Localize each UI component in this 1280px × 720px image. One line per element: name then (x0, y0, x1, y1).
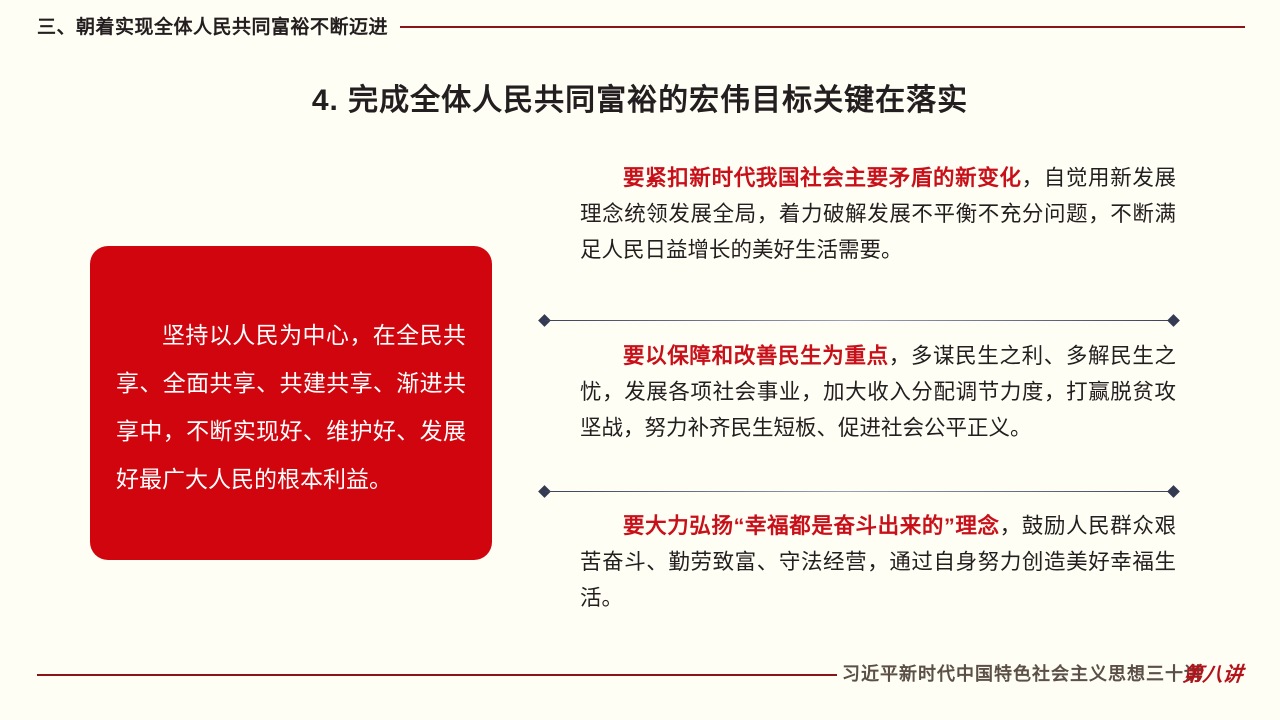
divider-line (545, 320, 1173, 321)
point-lead-2: 要以保障和改善民生为重点 (623, 344, 889, 368)
diamond-icon (1167, 485, 1180, 498)
point-paragraph-2: 要以保障和改善民生为重点，多谋民生之利、多解民生之忧，发展各项社会事业，加大收入… (540, 338, 1178, 446)
callout-text: 坚持以人民为中心，在全民共享、全面共享、共建共享、渐进共享中，不断实现好、维护好… (116, 311, 466, 503)
slide-root: 三、朝着实现全体人民共同富裕不断迈进 4. 完成全体人民共同富裕的宏伟目标关键在… (0, 0, 1280, 720)
point-lead-3: 要大力弘扬“幸福都是奋斗出来的”理念 (623, 514, 1000, 538)
point-paragraph-3: 要大力弘扬“幸福都是奋斗出来的”理念，鼓励人民群众艰苦奋斗、勤劳致富、守法经营，… (540, 508, 1178, 616)
point-item-3: 要大力弘扬“幸福都是奋斗出来的”理念，鼓励人民群众艰苦奋斗、勤劳致富、守法经营，… (540, 508, 1178, 616)
divider-line (545, 491, 1173, 492)
point-paragraph-1: 要紧扣新时代我国社会主要矛盾的新变化，自觉用新发展理念统领发展全局，着力破解发展… (540, 160, 1178, 268)
slide-footer: 习近平新时代中国特色社会主义思想三十讲 第八讲 (0, 660, 1280, 720)
point-item-1: 要紧扣新时代我国社会主要矛盾的新变化，自觉用新发展理念统领发展全局，着力破解发展… (540, 160, 1178, 268)
footer-series-title: 习近平新时代中国特色社会主义思想三十讲 (842, 660, 1203, 686)
point-item-2: 要以保障和改善民生为重点，多谋民生之利、多解民生之忧，发展各项社会事业，加大收入… (540, 338, 1178, 446)
footer-rule (37, 674, 837, 676)
diamond-icon (1167, 314, 1180, 327)
point-lead-1: 要紧扣新时代我国社会主要矛盾的新变化 (623, 166, 1022, 190)
page-title: 4. 完成全体人民共同富裕的宏伟目标关键在落实 (0, 75, 1280, 119)
footer-lecture-stamp: 第八讲 (1181, 658, 1244, 687)
point-divider-1 (540, 316, 1178, 326)
section-label: 三、朝着实现全体人民共同富裕不断迈进 (37, 12, 388, 39)
header-rule (400, 26, 1245, 28)
slide-header: 三、朝着实现全体人民共同富裕不断迈进 (0, 0, 1280, 54)
point-divider-2 (540, 487, 1178, 497)
callout-box: 坚持以人民为中心，在全民共享、全面共享、共建共享、渐进共享中，不断实现好、维护好… (90, 246, 492, 560)
